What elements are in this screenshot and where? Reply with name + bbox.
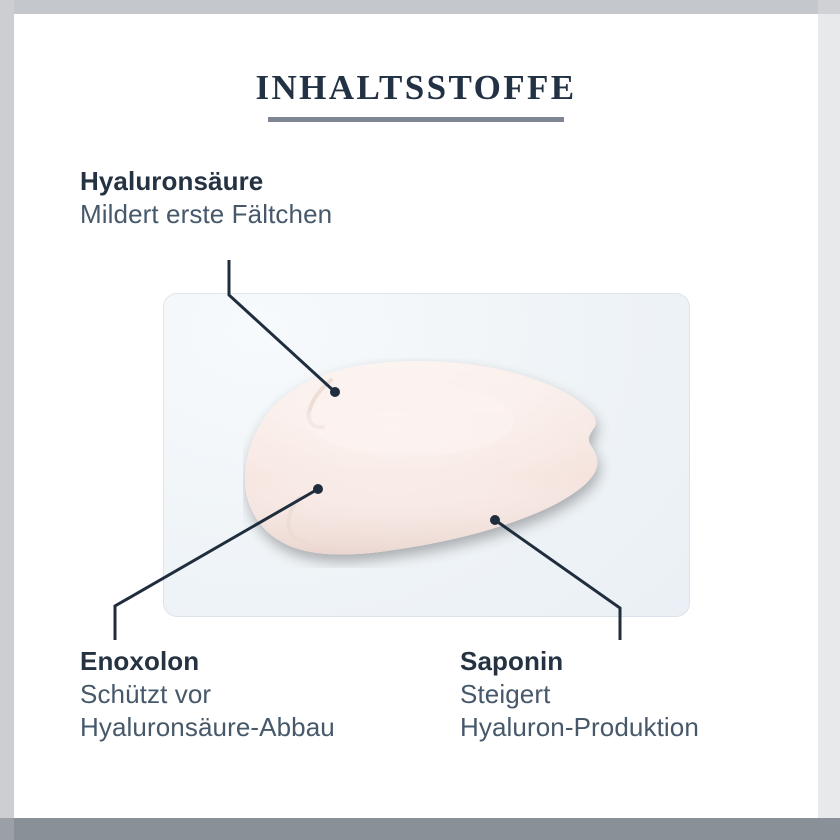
callout-enoxolon-title: Enoxolon xyxy=(80,646,335,678)
cream-highlight xyxy=(307,384,515,456)
callout-saponin-desc-line1: Steigert xyxy=(460,678,699,711)
callout-hyaluron: Hyaluronsäure Mildert erste Fältchen xyxy=(80,166,332,231)
frame-corner-top-right xyxy=(818,0,840,14)
content-stage: INHALTSSTOFFE xyxy=(14,14,818,818)
header: INHALTSSTOFFE xyxy=(14,70,818,122)
frame-border-right xyxy=(818,0,840,840)
frame-corner-bottom-left xyxy=(0,818,14,840)
frame-border-left xyxy=(0,0,14,840)
callout-saponin: Saponin Steigert Hyaluron-Produktion xyxy=(460,646,699,744)
title-underline-rule xyxy=(268,117,564,122)
callout-hyaluron-title: Hyaluronsäure xyxy=(80,166,332,198)
product-photo-panel xyxy=(163,293,690,617)
callout-enoxolon-desc-line2: Hyaluronsäure-Abbau xyxy=(80,711,335,744)
frame-border-bottom xyxy=(0,818,840,840)
callout-enoxolon: Enoxolon Schützt vor Hyaluronsäure-Abbau xyxy=(80,646,335,744)
cream-texture-swatch-icon xyxy=(243,358,633,568)
infographic-canvas: INHALTSSTOFFE xyxy=(0,0,840,840)
page-title: INHALTSSTOFFE xyxy=(14,70,818,105)
callout-hyaluron-desc: Mildert erste Fältchen xyxy=(80,198,332,231)
callout-enoxolon-desc-line1: Schützt vor xyxy=(80,678,335,711)
callout-saponin-title: Saponin xyxy=(460,646,699,678)
frame-border-top xyxy=(0,0,840,14)
callout-saponin-desc-line2: Hyaluron-Produktion xyxy=(460,711,699,744)
